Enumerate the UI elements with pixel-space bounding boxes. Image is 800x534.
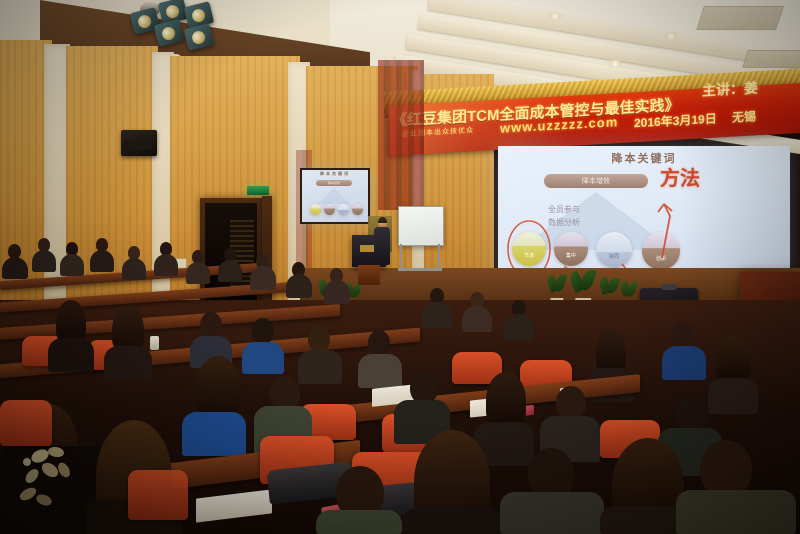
emergency-exit-sign	[247, 186, 269, 195]
case-handle	[661, 284, 676, 290]
auditorium-seat[interactable]	[128, 470, 188, 520]
pyramid-line-1: 全员参与	[498, 204, 710, 216]
presenter-body	[374, 227, 390, 265]
slide-pill: 降本增效	[544, 174, 648, 188]
slide-bubble: 节流	[512, 232, 546, 266]
slide-title-small: 降本关键词	[302, 171, 368, 177]
conference-hall-photo: 《红豆集团TCM全面成本管控与最佳实践》 企业因本出众技优众 www.uzzzz…	[0, 0, 800, 534]
slide-pyramid-small	[318, 188, 350, 204]
banner-host: 主讲：姜	[702, 77, 758, 100]
secondary-projection-screen: 降本关键词 降本增效	[300, 168, 370, 224]
slide-bubble: 协同	[596, 232, 632, 268]
paper-cup	[150, 336, 159, 350]
ceiling-air-vent	[696, 6, 784, 30]
ceiling-downlight	[608, 60, 622, 68]
slide-bubble: 集中	[554, 232, 588, 266]
slide-bubble-small	[324, 204, 335, 215]
ink-method: 方法	[660, 162, 700, 191]
flipchart-whiteboard	[398, 206, 444, 246]
ceiling-downlight	[548, 12, 562, 20]
banner-city: 无锡	[732, 107, 756, 125]
ceiling-air-vent	[742, 50, 800, 68]
flipchart-foot	[398, 268, 442, 271]
slide-pill-small: 降本增效	[316, 180, 352, 186]
auditorium-seat[interactable]	[0, 400, 52, 446]
lectern-base	[358, 265, 380, 285]
slide-bubble-small	[352, 204, 363, 215]
wall-mounted-loudspeaker	[121, 130, 157, 156]
slide-title: 降本关键词	[498, 150, 790, 166]
flipchart-leg	[438, 244, 440, 270]
stage-curtain	[378, 60, 424, 210]
slide-bubble: 创新	[642, 232, 680, 270]
slide-bubble-small	[338, 204, 349, 215]
slide-bubble-small	[310, 204, 321, 215]
pyramid-line-2: 数据分析	[498, 217, 710, 229]
flipchart-leg	[400, 244, 402, 270]
ceiling-downlight	[664, 32, 678, 40]
